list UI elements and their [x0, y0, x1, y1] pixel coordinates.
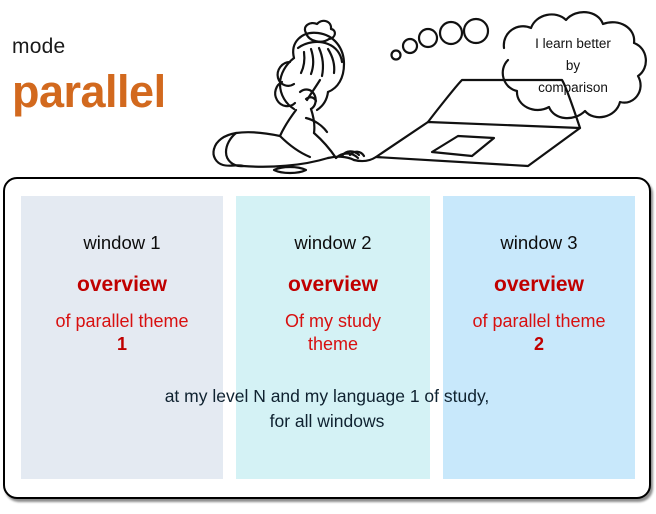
thought-bubble-line-2: by: [566, 58, 581, 73]
window-panel-1[interactable]: window 1 overview of parallel theme 1: [21, 196, 223, 479]
window-panel-1-sub-line-2: 1: [117, 334, 127, 354]
window-panel-1-heading: overview: [21, 274, 223, 295]
thought-bubble-line-1: I learn better: [535, 36, 611, 51]
person-studying-at-laptop-illustration: I learn better by comparison: [210, 0, 656, 175]
window-panel-2[interactable]: window 2 overview Of my study theme: [236, 196, 430, 479]
window-panel-2-sub-line-2: theme: [308, 334, 358, 354]
window-panel-2-title: window 2: [236, 234, 430, 253]
window-panel-3[interactable]: window 3 overview of parallel theme 2: [443, 196, 635, 479]
windows-frame: window 1 overview of parallel theme 1 wi…: [3, 177, 651, 499]
mode-label: mode: [12, 36, 65, 57]
header-area: mode parallel: [0, 0, 656, 175]
window-panel-1-sub-line-1: of parallel theme: [55, 311, 188, 331]
window-panel-3-title: window 3: [443, 234, 635, 253]
window-panel-1-title: window 1: [21, 234, 223, 253]
window-panel-2-sub-line-1: Of my study: [285, 311, 381, 331]
window-panel-1-subtitle: of parallel theme 1: [21, 310, 223, 355]
window-panel-2-subtitle: Of my study theme: [236, 310, 430, 355]
window-panel-3-heading: overview: [443, 274, 635, 295]
mode-value: parallel: [12, 68, 166, 115]
thought-bubble-line-3: comparison: [538, 80, 608, 95]
window-panel-3-sub-line-2: 2: [534, 334, 544, 354]
window-panel-2-heading: overview: [236, 274, 430, 295]
window-panel-3-sub-line-1: of parallel theme: [472, 311, 605, 331]
window-panel-3-subtitle: of parallel theme 2: [443, 310, 635, 355]
